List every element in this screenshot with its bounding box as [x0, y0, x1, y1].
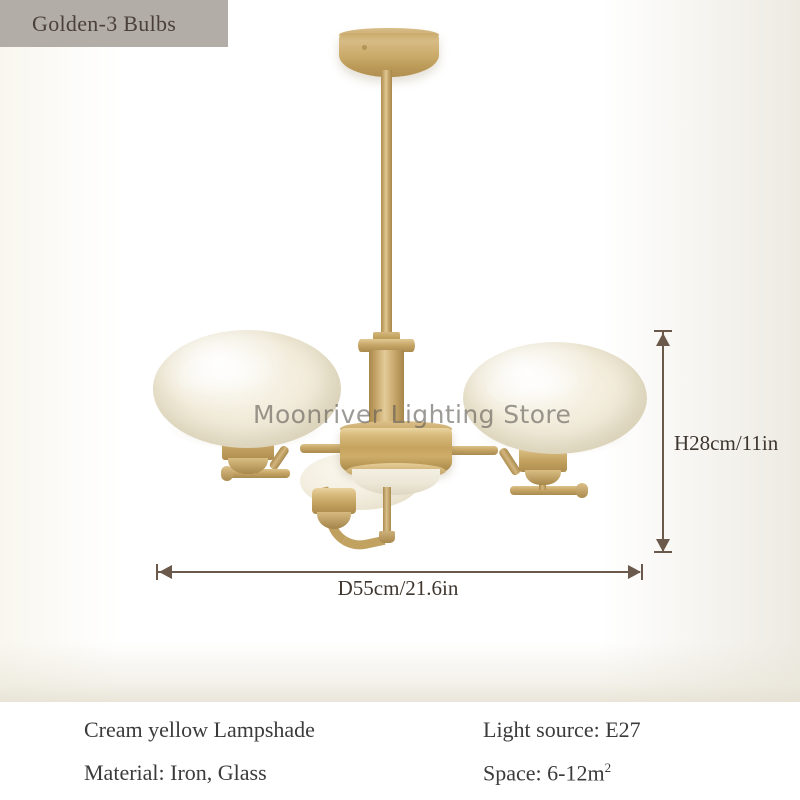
front-socket-cup: [312, 488, 356, 514]
store-watermark: Moonriver Lighting Store: [253, 400, 571, 429]
center-finial: [379, 531, 395, 543]
product-image-page: Moonriver Lighting Store D55cm/21.6in H2…: [0, 0, 800, 800]
suspension-rod: [381, 70, 392, 338]
height-dimension-label: H28cm/11in: [674, 431, 778, 456]
diameter-dimension-text: D55cm/21.6in: [338, 576, 459, 601]
diameter-dimension-line: [158, 571, 640, 573]
spec-space: Space: 6-12m2: [483, 760, 611, 786]
spec-material: Material: Iron, Glass: [84, 760, 267, 786]
right-arm-end-cap: [576, 483, 588, 498]
spec-light-source: Light source: E27: [483, 717, 641, 743]
right-socket-base: [525, 470, 561, 485]
spec-space-text: Space: 6-12m: [483, 760, 605, 785]
diameter-dimension-label: D55cm/21.6in: [0, 576, 800, 601]
spec-shade: Cream yellow Lampshade: [84, 717, 315, 743]
height-dimension-line: [662, 332, 664, 552]
right-arm-segment-outer: [510, 486, 582, 495]
specification-footer: Cream yellow Lampshade Material: Iron, G…: [0, 702, 800, 800]
canopy-screw-icon: [362, 45, 367, 50]
center-drop-rod: [383, 487, 391, 537]
right-lampshade: [463, 342, 647, 454]
variant-banner-label: Golden-3 Bulbs: [32, 11, 176, 37]
right-arm-segment-inner: [444, 446, 498, 455]
spec-space-superscript: 2: [605, 760, 612, 775]
height-arrow-up-icon: [656, 333, 670, 346]
product-photo: Moonriver Lighting Store D55cm/21.6in H2…: [0, 0, 800, 702]
variant-banner: Golden-3 Bulbs: [0, 0, 228, 47]
left-lampshade: [153, 330, 341, 448]
height-arrow-down-icon: [656, 539, 670, 552]
